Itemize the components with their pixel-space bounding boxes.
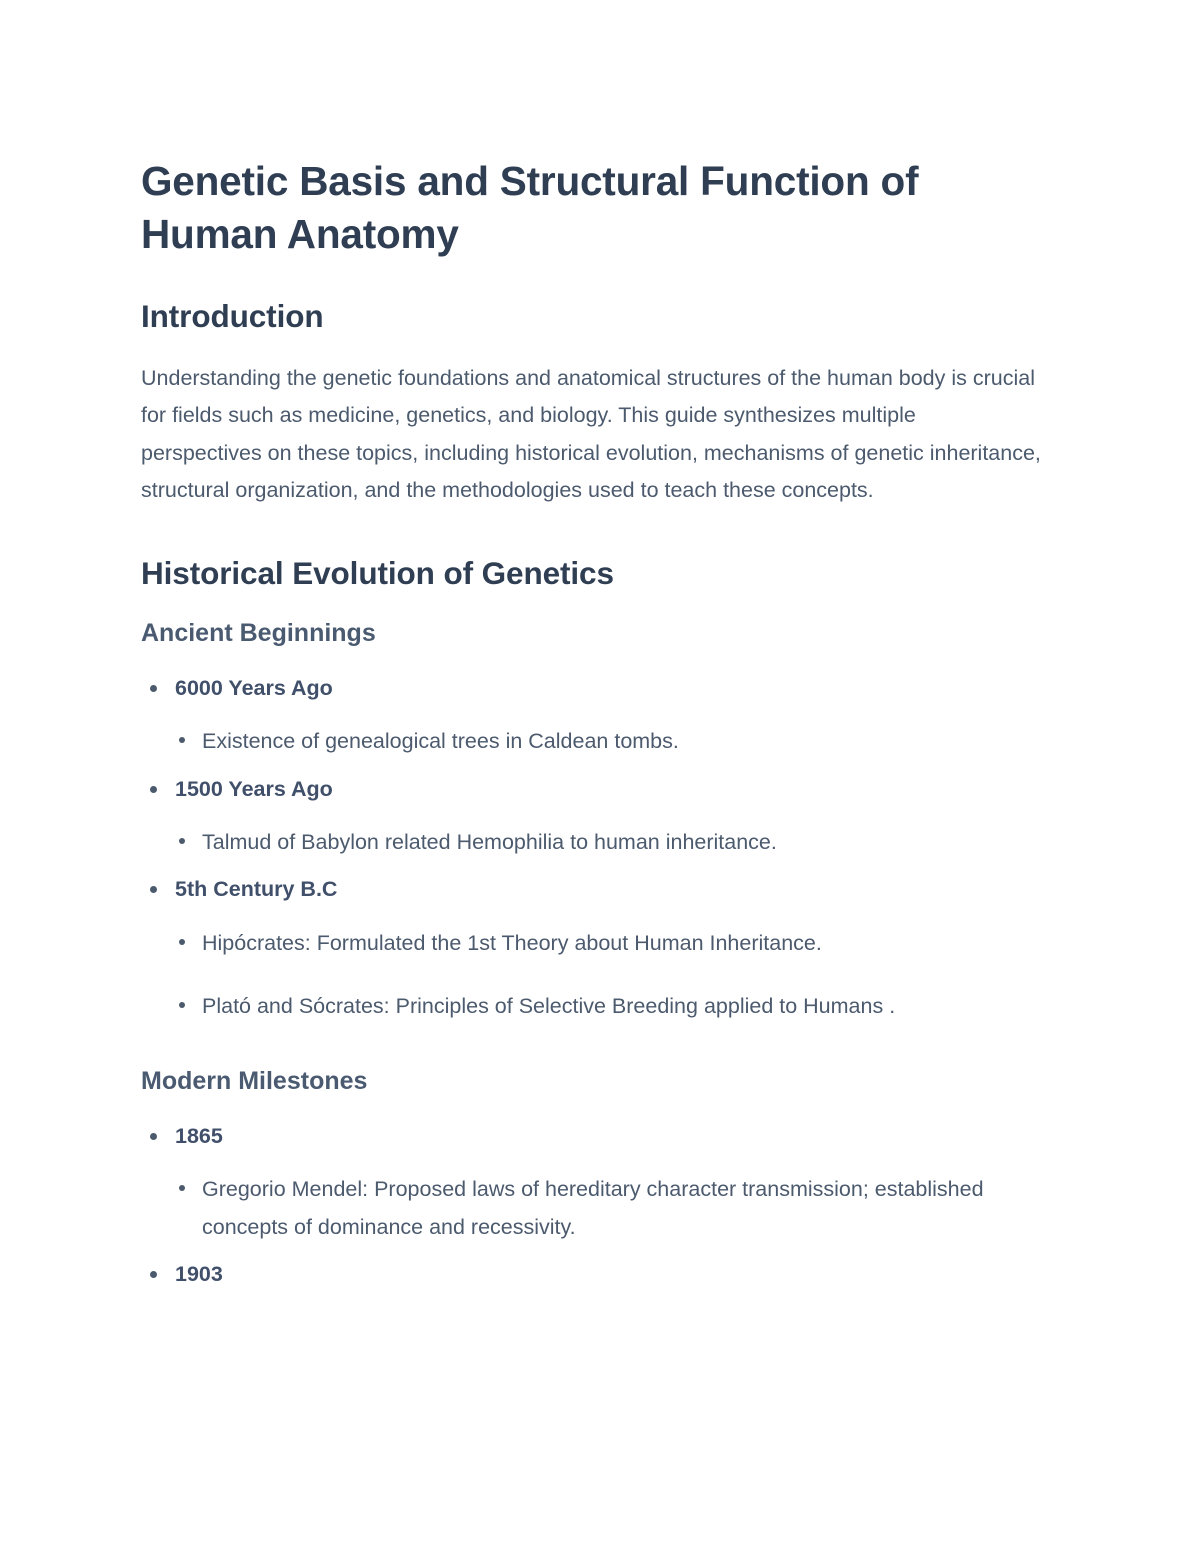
bullet-icon [150,1133,157,1140]
sub-list: Gregorio Mendel: Proposed laws of heredi… [175,1171,1060,1246]
list-item: Gregorio Mendel: Proposed laws of heredi… [175,1171,1060,1246]
section-heading-historical-evolution: Historical Evolution of Genetics [141,553,1060,594]
bullet-icon [179,838,185,844]
subsection-heading-ancient-beginnings: Ancient Beginnings [141,617,1060,650]
bullet-icon [179,1002,185,1008]
document-page: Genetic Basis and Structural Function of… [0,0,1200,1553]
bullet-icon [150,1271,157,1278]
bullet-icon [150,685,157,692]
sub-list: Talmud of Babylon related Hemophilia to … [175,824,1060,861]
introduction-paragraph: Understanding the genetic foundations an… [141,360,1041,510]
bullet-icon [150,786,157,793]
list-item: Existence of genealogical trees in Calde… [175,723,1060,760]
list-item-label: 5th Century B.C [175,873,1060,906]
sub-list: Existence of genealogical trees in Calde… [175,723,1060,760]
list-item-label: 1500 Years Ago [175,773,1060,806]
page-title: Genetic Basis and Structural Function of… [141,155,1031,262]
list-item: 1865 Gregorio Mendel: Proposed laws of h… [141,1120,1060,1246]
bullet-icon [179,1185,185,1191]
list-item: Talmud of Babylon related Hemophilia to … [175,824,1060,861]
list-item-detail: Gregorio Mendel: Proposed laws of heredi… [202,1171,1060,1246]
list-item-detail: Talmud of Babylon related Hemophilia to … [202,824,1060,861]
modern-milestones-list: 1865 Gregorio Mendel: Proposed laws of h… [141,1120,1060,1291]
list-item: Hipócrates: Formulated the 1st Theory ab… [175,925,1060,962]
list-item: 1500 Years Ago Talmud of Babylon related… [141,773,1060,862]
list-item-label: 6000 Years Ago [175,672,1060,705]
list-item-detail: Hipócrates: Formulated the 1st Theory ab… [202,925,1060,962]
ancient-beginnings-list: 6000 Years Ago Existence of genealogical… [141,672,1060,1026]
subsection-heading-modern-milestones: Modern Milestones [141,1065,1060,1098]
bullet-icon [150,886,157,893]
list-item: 6000 Years Ago Existence of genealogical… [141,672,1060,761]
bullet-icon [179,737,185,743]
list-item-detail: Existence of genealogical trees in Calde… [202,723,1060,760]
sub-list: Hipócrates: Formulated the 1st Theory ab… [175,925,1060,1026]
list-item: 1903 [141,1258,1060,1291]
list-item: Plató and Sócrates: Principles of Select… [175,988,1060,1025]
list-item-detail: Plató and Sócrates: Principles of Select… [202,988,1060,1025]
bullet-icon [179,939,185,945]
list-item-label: 1903 [175,1258,1060,1291]
list-item-label: 1865 [175,1120,1060,1153]
list-item: 5th Century B.C Hipócrates: Formulated t… [141,873,1060,1025]
section-heading-introduction: Introduction [141,296,1060,337]
